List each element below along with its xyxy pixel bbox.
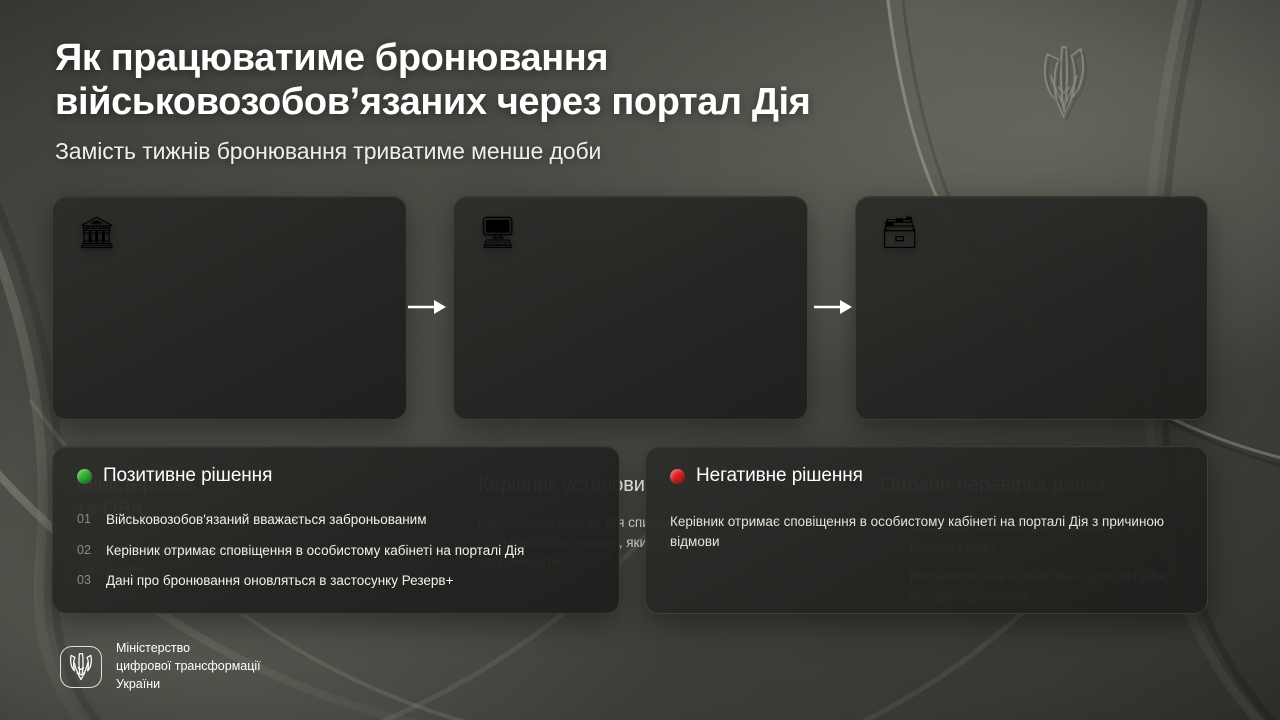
page-title: Як працюватиме бронювання військовозобов… xyxy=(55,36,1055,124)
positive-decision-card: Позитивне рішення 01 Військовозобов'язан… xyxy=(52,446,620,614)
trident-icon xyxy=(69,653,93,681)
page-title-line-2: військовозобов’язаних через портал Дія xyxy=(55,80,1055,124)
positive-decision-title: Позитивне рішення xyxy=(103,465,272,487)
ministry-name-line-3: України xyxy=(116,676,261,694)
negative-decision-card: Негативне рішення Керівник отримає спові… xyxy=(645,446,1208,614)
ministry-name-line-2: цифрової трансформації xyxy=(116,658,261,676)
step-card-online-verification: 🗃 Онлайн-перевірка даних 01 Військово-об… xyxy=(855,196,1208,420)
step-card-institution-head: 🖥 Керівник установи подає через портал Д… xyxy=(453,196,808,420)
flow-arrow-step2-to-step3 xyxy=(812,296,854,318)
list-item-text: Керівник отримає сповіщення в особистому… xyxy=(106,541,524,561)
list-item-index: 02 xyxy=(77,541,93,559)
step-card-ministries: 🏛 Міністерства та ОВА формують перелік у… xyxy=(52,196,407,420)
card-file-box-icon: 🗃 xyxy=(880,217,919,248)
list-item-index: 03 xyxy=(77,571,93,589)
desktop-computer-icon: 🖥 xyxy=(478,217,517,248)
list-item-text: Військовозобов'язаний вважається забронь… xyxy=(106,510,427,530)
classical-building-icon: 🏛 xyxy=(77,217,116,248)
positive-decision-list: 01 Військовозобов'язаний вважається забр… xyxy=(77,510,597,591)
green-circle-icon xyxy=(77,469,92,484)
list-item: 03 Дані про бронювання оновляться в заст… xyxy=(77,571,597,591)
footer-branding: Міністерство цифрової трансформації Укра… xyxy=(60,640,261,693)
red-circle-icon xyxy=(670,469,685,484)
positive-decision-header: Позитивне рішення xyxy=(77,465,272,487)
header: Як працюватиме бронювання військовозобов… xyxy=(55,36,1055,166)
negative-decision-body: Керівник отримає сповіщення в особистому… xyxy=(670,512,1190,551)
list-item-text: Дані про бронювання оновляться в застосу… xyxy=(106,571,453,591)
flow-arrow-step1-to-step2 xyxy=(406,296,448,318)
negative-decision-title: Негативне рішення xyxy=(696,465,863,487)
ministry-name: Міністерство цифрової трансформації Укра… xyxy=(116,640,261,693)
list-item-index: 01 xyxy=(77,510,93,528)
negative-decision-header: Негативне рішення xyxy=(670,465,863,487)
page-subtitle: Замість тижнів бронювання триватиме менш… xyxy=(55,138,1055,166)
list-item: 01 Військовозобов'язаний вважається забр… xyxy=(77,510,597,530)
list-item: 02 Керівник отримає сповіщення в особист… xyxy=(77,541,597,561)
ministry-name-line-1: Міністерство xyxy=(116,640,261,658)
infographic-canvas: Як працюватиме бронювання військовозобов… xyxy=(0,0,1280,720)
page-title-line-1: Як працюватиме бронювання xyxy=(55,36,1055,80)
ukraine-trident-logo xyxy=(60,646,102,688)
